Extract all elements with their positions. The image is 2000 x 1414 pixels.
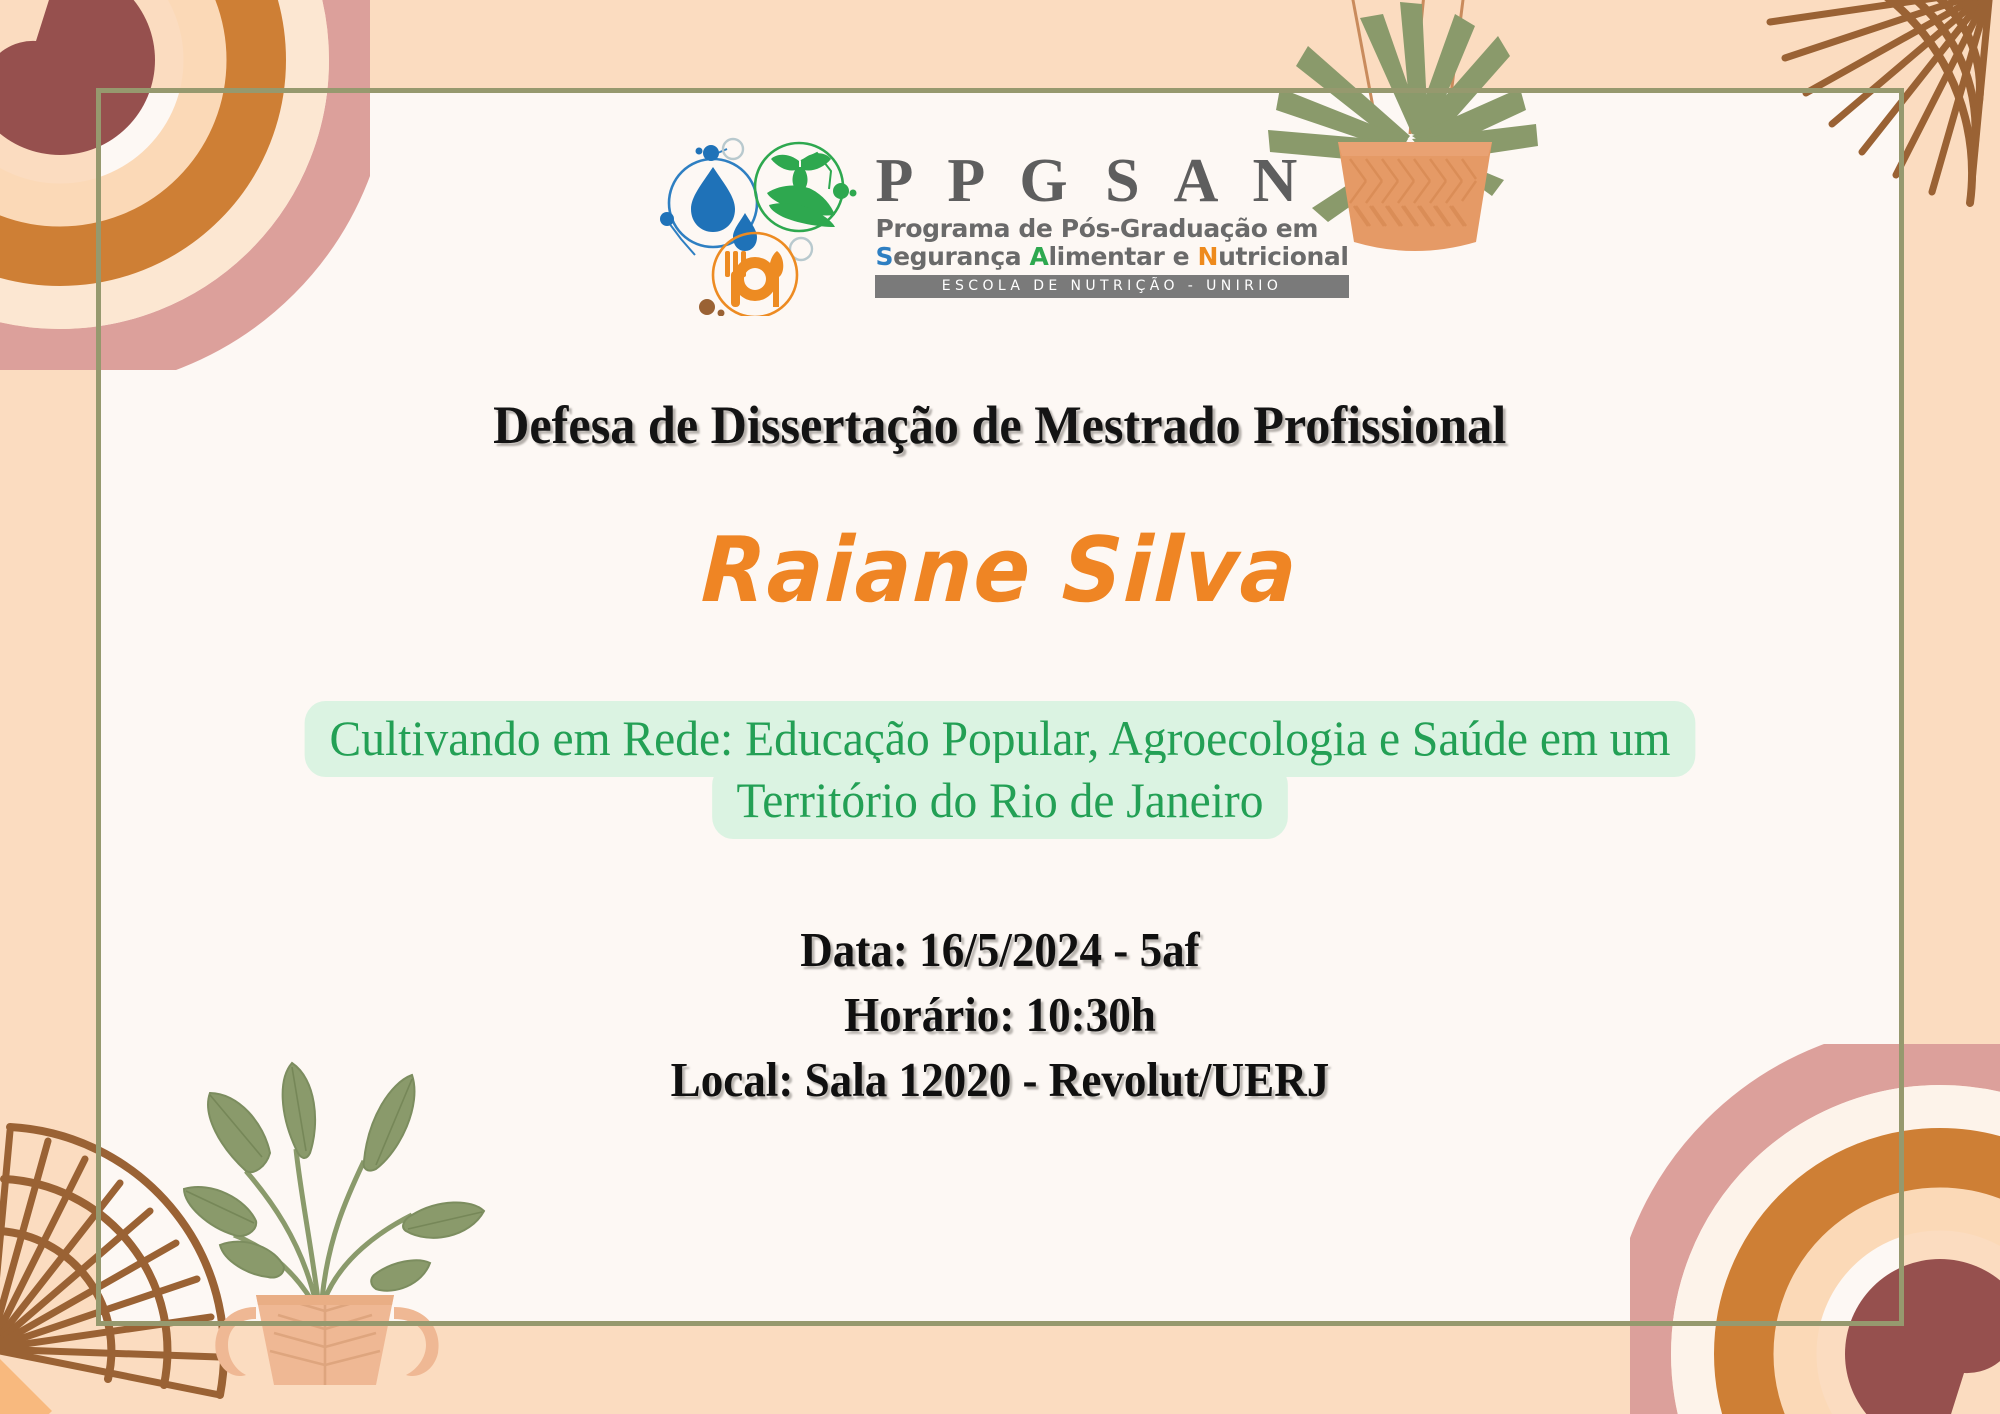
event-headline: Defesa de Dissertação de Mestrado Profis… <box>493 394 1506 456</box>
thesis-title: Cultivando em Rede: Educação Popular, Ag… <box>221 707 1779 831</box>
logo-a-letter: A <box>1030 242 1049 271</box>
logo-acronym: P P G S A N <box>875 150 1308 212</box>
logo-icon-cluster <box>651 131 861 316</box>
logo-seguranca-text: egurança <box>893 242 1029 271</box>
logo-alimentar-text: limentar e <box>1048 242 1197 271</box>
event-location: Local: Sala 12020 - Revolut/UERJ <box>671 1047 1330 1112</box>
student-name: Raiane Silva <box>699 518 1300 623</box>
frame-border-bottom <box>96 1321 1904 1326</box>
event-time: Horário: 10:30h <box>671 982 1330 1047</box>
event-details: Data: 16/5/2024 - 5af Horário: 10:30h Lo… <box>671 917 1330 1112</box>
logo-nutricional-text: utricional <box>1218 242 1348 271</box>
logo-s-letter: S <box>875 242 893 271</box>
frame-border-right <box>1899 88 1904 1326</box>
poster-canvas: P P G S A N Programa de Pós-Graduação em… <box>0 0 2000 1414</box>
poster-content: P P G S A N Programa de Pós-Graduação em… <box>101 93 1899 1321</box>
thesis-title-line2: Território do Rio de Janeiro <box>712 763 1288 839</box>
logo-text-block: P P G S A N Programa de Pós-Graduação em… <box>875 150 1348 298</box>
logo-n-letter: N <box>1198 242 1219 271</box>
logo-subtitle-line1: Programa de Pós-Graduação em <box>875 215 1318 243</box>
logo-subtitle-line2: Segurança Alimentar e Nutricional <box>875 243 1348 271</box>
logo-school-bar: ESCOLA DE NUTRIÇÃO - UNIRIO <box>875 275 1348 298</box>
event-date: Data: 16/5/2024 - 5af <box>671 917 1330 982</box>
ppgsan-logo: P P G S A N Programa de Pós-Graduação em… <box>651 131 1348 316</box>
